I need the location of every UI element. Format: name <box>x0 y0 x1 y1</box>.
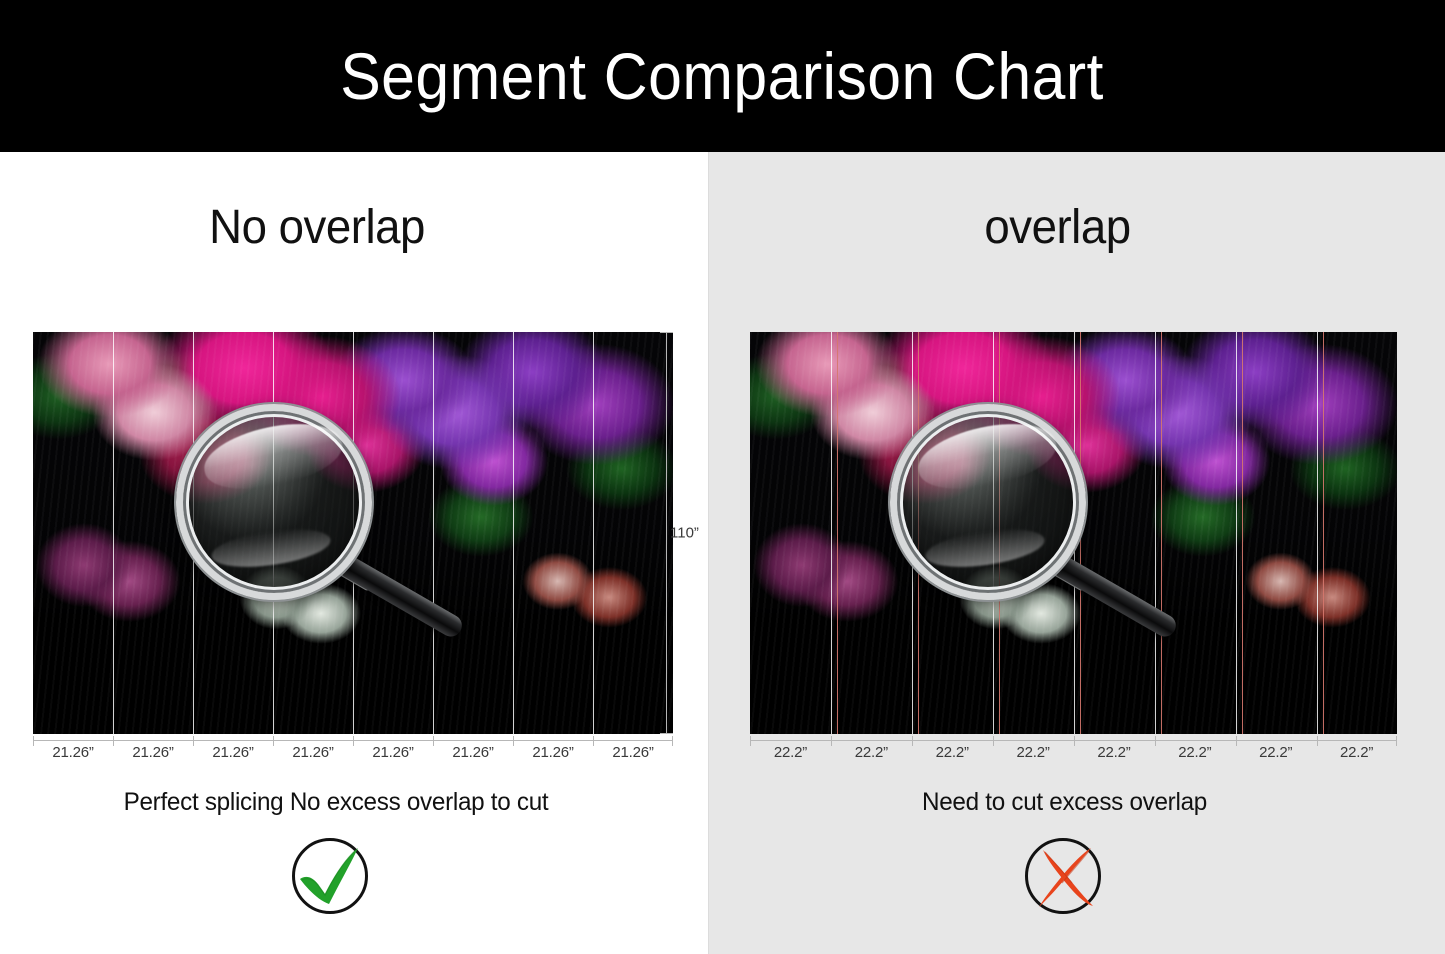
magnifier-lens <box>176 404 372 600</box>
magnifier-glare <box>913 413 1062 499</box>
magnifier-lens <box>890 404 1086 600</box>
panel-heading-overlap: overlap <box>707 204 1407 252</box>
cross-glyph <box>1021 834 1107 920</box>
panel-heading-no-overlap: No overlap <box>0 204 653 252</box>
comparison-panels: No overlap <box>0 152 1445 954</box>
segment-width-label: 21.26” <box>33 744 113 761</box>
segment-width-label: 21.26” <box>193 744 273 761</box>
mural-figure-no-overlap <box>33 332 673 734</box>
ruler-tick <box>660 332 673 333</box>
page-title: Segment Comparison Chart <box>341 43 1105 109</box>
check-icon <box>288 834 374 920</box>
segment-width-label: 21.26” <box>273 744 353 761</box>
ruler-baseline <box>666 332 667 734</box>
mural-height-label: 110” <box>670 525 699 542</box>
segment-width-label: 21.26” <box>353 744 433 761</box>
segment-width-label: 22.2” <box>750 744 831 761</box>
segment-width-label: 22.2” <box>912 744 993 761</box>
magnifier-glare-secondary <box>923 523 1047 573</box>
segment-width-labels-overlap: 22.2” 22.2” 22.2” 22.2” 22.2” 22.2” 22.2… <box>750 744 1397 761</box>
panel-overlap: overlap <box>708 152 1445 954</box>
magnifier-glare <box>199 413 348 499</box>
segment-width-label: 22.2” <box>1074 744 1155 761</box>
segment-width-label: 21.26” <box>433 744 513 761</box>
verdict-overlap <box>695 834 1432 920</box>
panel-caption-no-overlap: Perfect splicing No excess overlap to cu… <box>0 790 679 815</box>
segment-width-label: 21.26” <box>593 744 673 761</box>
header-bar: Segment Comparison Chart <box>0 0 1445 152</box>
height-ruler-no-overlap: 110” <box>658 332 688 734</box>
verdict-no-overlap <box>0 834 685 920</box>
segment-width-label: 21.26” <box>113 744 193 761</box>
segment-width-label: 22.2” <box>831 744 912 761</box>
panel-no-overlap: No overlap <box>0 152 708 954</box>
segment-width-label: 21.26” <box>513 744 593 761</box>
segment-comparison-chart-page: Segment Comparison Chart No overlap <box>0 0 1445 954</box>
segment-width-label: 22.2” <box>993 744 1074 761</box>
cross-icon <box>1021 834 1107 920</box>
magnifier-glare-secondary <box>209 523 333 573</box>
ruler-tick <box>660 733 673 734</box>
segment-width-label: 22.2” <box>1316 744 1397 761</box>
mural-figure-overlap <box>750 332 1397 734</box>
segment-width-labels-no-overlap: 21.26” 21.26” 21.26” 21.26” 21.26” 21.26… <box>33 744 673 761</box>
panel-divider <box>708 152 709 954</box>
magnifier-icon <box>176 404 372 600</box>
segment-width-label: 22.2” <box>1235 744 1316 761</box>
segment-width-label: 22.2” <box>1154 744 1235 761</box>
check-glyph <box>288 834 374 920</box>
panel-caption-overlap: Need to cut excess overlap <box>707 790 1422 815</box>
magnifier-icon <box>890 404 1086 600</box>
